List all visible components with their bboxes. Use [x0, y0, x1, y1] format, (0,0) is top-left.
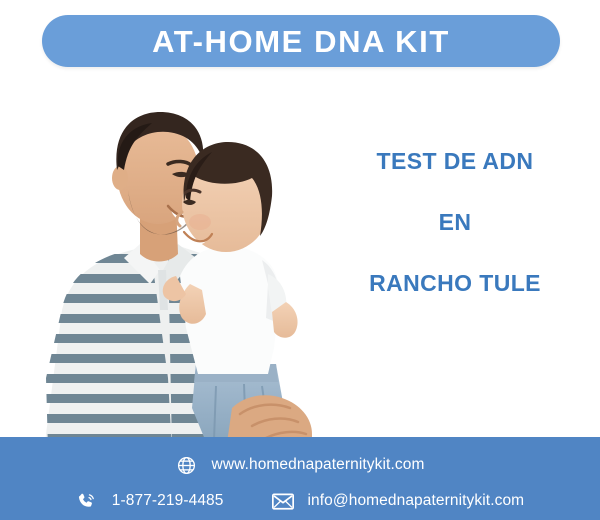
- phone-icon: [76, 490, 98, 512]
- headline-block: TEST DE ADN EN RANCHO TULE: [330, 150, 580, 295]
- title-banner: AT-HOME DNA KIT: [42, 15, 560, 67]
- phone-contact-item[interactable]: 1-877-219-4485: [76, 490, 224, 512]
- website-contact-item[interactable]: www.homednapaternitykit.com: [176, 454, 425, 476]
- footer-row-website: www.homednapaternitykit.com: [0, 449, 600, 481]
- globe-icon: [176, 454, 198, 476]
- website-text: www.homednapaternitykit.com: [212, 456, 425, 474]
- father-and-child-photo: [0, 78, 330, 450]
- envelope-icon: [272, 490, 294, 512]
- email-text: info@homednapaternitykit.com: [308, 492, 525, 510]
- footer-row-phone-email: 1-877-219-4485 info@homednapaternitykit.…: [0, 485, 600, 517]
- headline-line-2: EN: [330, 211, 580, 234]
- headline-line-3: RANCHO TULE: [330, 272, 580, 295]
- contact-footer: www.homednapaternitykit.com 1-877-219-44…: [0, 437, 600, 520]
- dna-kit-poster: AT-HOME DNA KIT: [0, 0, 600, 520]
- phone-text: 1-877-219-4485: [112, 492, 224, 510]
- page-title: AT-HOME DNA KIT: [152, 26, 450, 57]
- headline-line-1: TEST DE ADN: [330, 150, 580, 173]
- email-contact-item[interactable]: info@homednapaternitykit.com: [272, 490, 525, 512]
